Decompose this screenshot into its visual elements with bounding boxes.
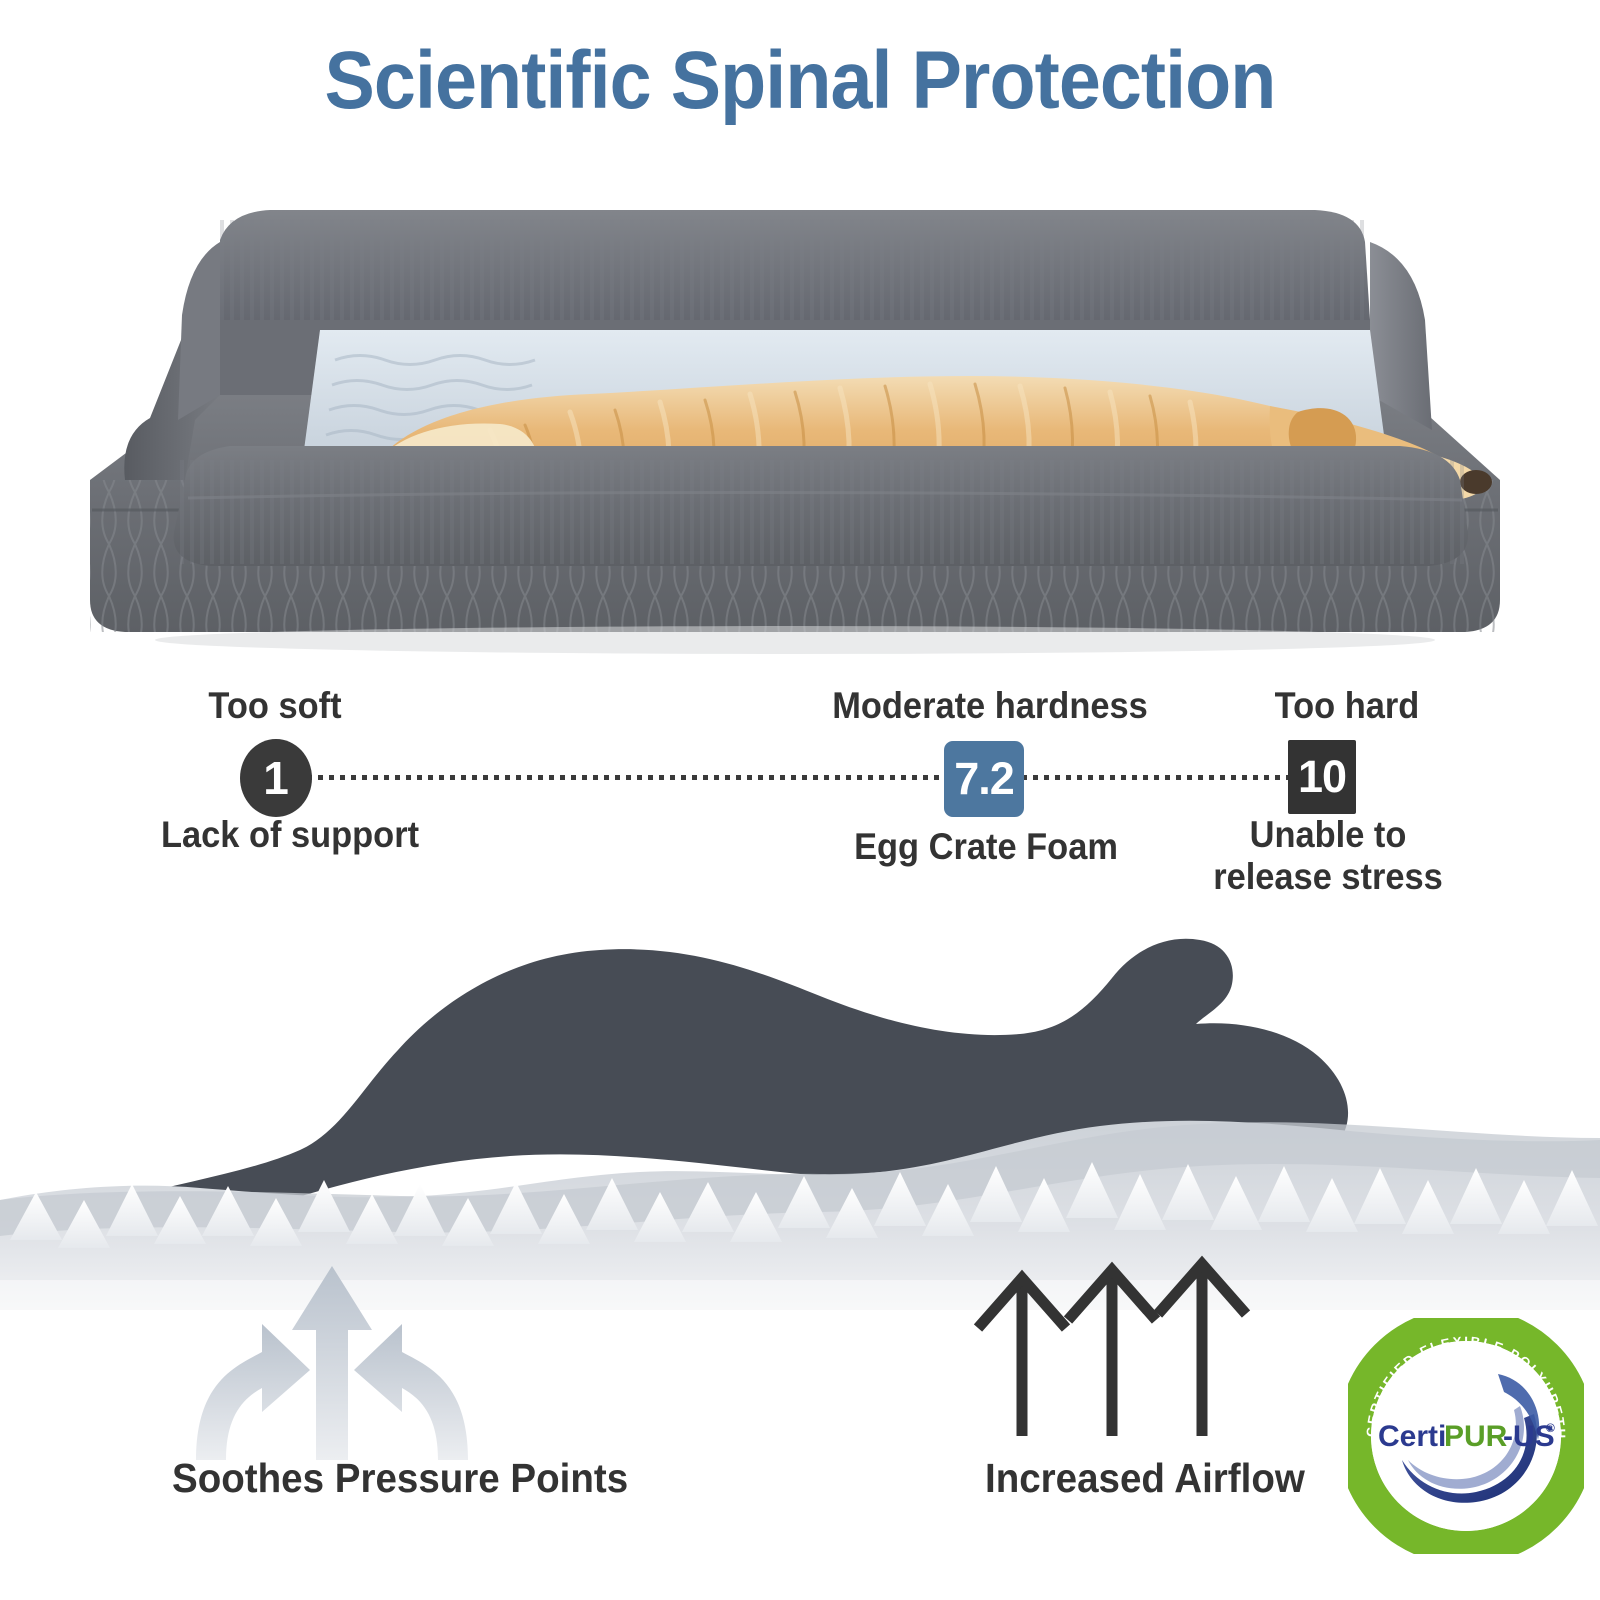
scale-sublabel-lack-of-support: Lack of support [151, 815, 430, 855]
label-soothes-pressure-points: Soothes Pressure Points [172, 1455, 628, 1502]
airflow-arrows [978, 1264, 1246, 1436]
scale-label-too-soft: Too soft [168, 685, 382, 727]
product-photo [70, 180, 1530, 660]
label-increased-airflow: Increased Airflow [985, 1455, 1305, 1502]
scale-sublabel-egg-crate-foam: Egg Crate Foam [847, 827, 1126, 867]
hardness-badge-1: 1 [240, 739, 312, 817]
hardness-scale-dotted-line [296, 775, 1316, 780]
scale-label-moderate-hardness: Moderate hardness [823, 685, 1158, 727]
scale-sublabel-release-stress: release stress [1207, 857, 1449, 897]
hardness-scale: Too soft Moderate hardness Too hard Lack… [0, 685, 1600, 900]
certipur-text-pur: PUR [1444, 1420, 1508, 1453]
hardness-badge-10: 10 [1288, 740, 1356, 814]
hardness-badge-7-2: 7.2 [944, 741, 1024, 817]
certipur-us-logo: CONTAINS CERTIFIED FLEXIBLE POLYURETHANE… [1348, 1318, 1584, 1554]
scale-label-too-hard: Too hard [1240, 685, 1454, 727]
page-title: Scientific Spinal Protection [64, 34, 1536, 128]
certipur-text-certi: Certi [1378, 1420, 1446, 1453]
scale-sublabel-unable-to: Unable to [1207, 815, 1449, 855]
certipur-trademark: ® [1546, 1421, 1555, 1435]
